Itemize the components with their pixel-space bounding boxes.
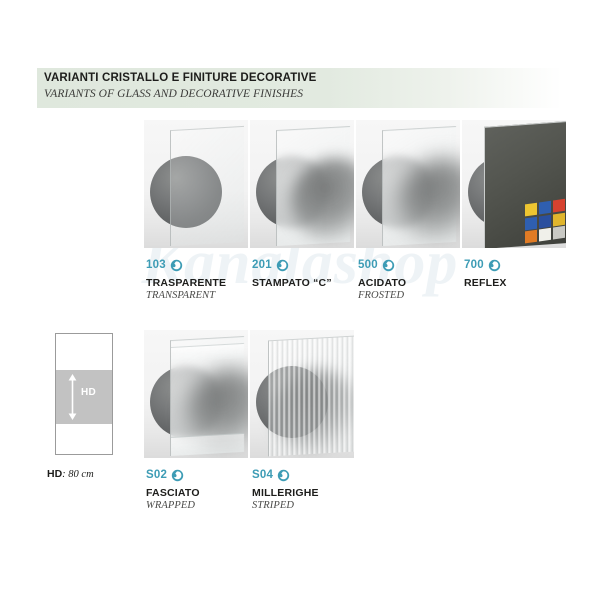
swatch-cell-103[interactable] bbox=[144, 120, 248, 248]
swatch-cell-s02[interactable] bbox=[144, 330, 248, 458]
color-chip bbox=[525, 216, 537, 230]
hd-dimension-diagram: HD bbox=[55, 333, 113, 455]
swatch-cell-700[interactable] bbox=[462, 120, 566, 248]
glass-finish-icon bbox=[170, 259, 183, 272]
glass-finish-icon bbox=[276, 259, 289, 272]
glass-finish-icon bbox=[382, 259, 395, 272]
reflex-glass-swatch bbox=[462, 120, 566, 248]
color-chip bbox=[553, 212, 565, 226]
product-name-it: FASCIATO bbox=[146, 487, 200, 499]
double-arrow-icon bbox=[67, 374, 78, 420]
product-code: S04 bbox=[252, 469, 273, 481]
code-row: S04 bbox=[252, 467, 319, 483]
hd-band-label: HD bbox=[81, 387, 96, 398]
code-row: 500 bbox=[358, 257, 406, 273]
glass-finish-icon bbox=[171, 469, 184, 482]
color-chip bbox=[539, 214, 551, 228]
striped-glass-swatch bbox=[250, 330, 354, 458]
product-code: 103 bbox=[146, 259, 166, 271]
product-name-it: REFLEX bbox=[464, 277, 507, 289]
page-subtitle: VARIANTS OF GLASS AND DECORATIVE FINISHE… bbox=[44, 88, 303, 100]
product-code: 500 bbox=[358, 259, 378, 271]
frosted-glass-swatch bbox=[356, 120, 460, 248]
wrap-band bbox=[171, 343, 244, 362]
caption-700: 700 REFLEX bbox=[464, 257, 507, 290]
blurred-sphere bbox=[399, 155, 460, 244]
glass-pane bbox=[276, 126, 350, 246]
product-name-it: TRASPARENTE bbox=[146, 277, 226, 289]
caption-201: 201 STAMPATO “C” bbox=[252, 257, 332, 290]
product-name-en: TRANSPARENT bbox=[146, 290, 226, 301]
glass-pane bbox=[170, 336, 244, 456]
code-row: 201 bbox=[252, 257, 332, 273]
swatch-cell-s04[interactable] bbox=[250, 330, 354, 458]
ribbed-stripes bbox=[269, 337, 354, 457]
caption-s02: S02 FASCIATO WRAPPED bbox=[146, 467, 200, 511]
hd-caption-label: HD bbox=[47, 468, 62, 480]
glass-pane bbox=[382, 126, 456, 246]
wrapped-glass-swatch bbox=[144, 330, 248, 458]
tinted-glass-pane bbox=[484, 121, 566, 248]
hd-caption-value: : 80 cm bbox=[62, 469, 94, 480]
product-name-it: MILLERIGHE bbox=[252, 487, 319, 499]
code-row: 103 bbox=[146, 257, 226, 273]
color-chip bbox=[539, 201, 551, 215]
color-chip bbox=[553, 226, 565, 240]
caption-500: 500 ACIDATO FROSTED bbox=[358, 257, 406, 301]
swatch-cell-201[interactable] bbox=[250, 120, 354, 248]
glass-finish-icon bbox=[277, 469, 290, 482]
color-reference-chart bbox=[525, 199, 565, 244]
product-name-en: STRIPED bbox=[252, 500, 319, 511]
swatch-cell-500[interactable] bbox=[356, 120, 460, 248]
section-header-banner: VARIANTI CRISTALLO E FINITURE DECORATIVE… bbox=[37, 68, 562, 108]
code-row: S02 bbox=[146, 467, 200, 483]
hd-caption: HD: 80 cm bbox=[47, 468, 94, 480]
caption-103: 103 TRASPARENTE TRANSPARENT bbox=[146, 257, 226, 301]
product-code: S02 bbox=[146, 469, 167, 481]
product-name-it: ACIDATO bbox=[358, 277, 406, 289]
clear-glass-swatch bbox=[144, 120, 248, 248]
glass-finish-icon bbox=[488, 259, 501, 272]
code-row: 700 bbox=[464, 257, 507, 273]
product-code: 700 bbox=[464, 259, 484, 271]
color-chip bbox=[525, 203, 537, 217]
product-name-en: WRAPPED bbox=[146, 500, 200, 511]
color-chip bbox=[539, 228, 551, 242]
caption-s04: S04 MILLERIGHE STRIPED bbox=[252, 467, 319, 511]
glass-pane bbox=[170, 126, 244, 246]
color-chip bbox=[553, 199, 565, 213]
product-name-en: FROSTED bbox=[358, 290, 406, 301]
page-title: VARIANTI CRISTALLO E FINITURE DECORATIVE bbox=[44, 72, 316, 84]
printed-c-glass-swatch bbox=[250, 120, 354, 248]
product-code: 201 bbox=[252, 259, 272, 271]
product-name-it: STAMPATO “C” bbox=[252, 277, 332, 289]
color-chip bbox=[525, 230, 537, 244]
blurred-sphere bbox=[291, 156, 354, 245]
glass-pane bbox=[268, 336, 354, 457]
